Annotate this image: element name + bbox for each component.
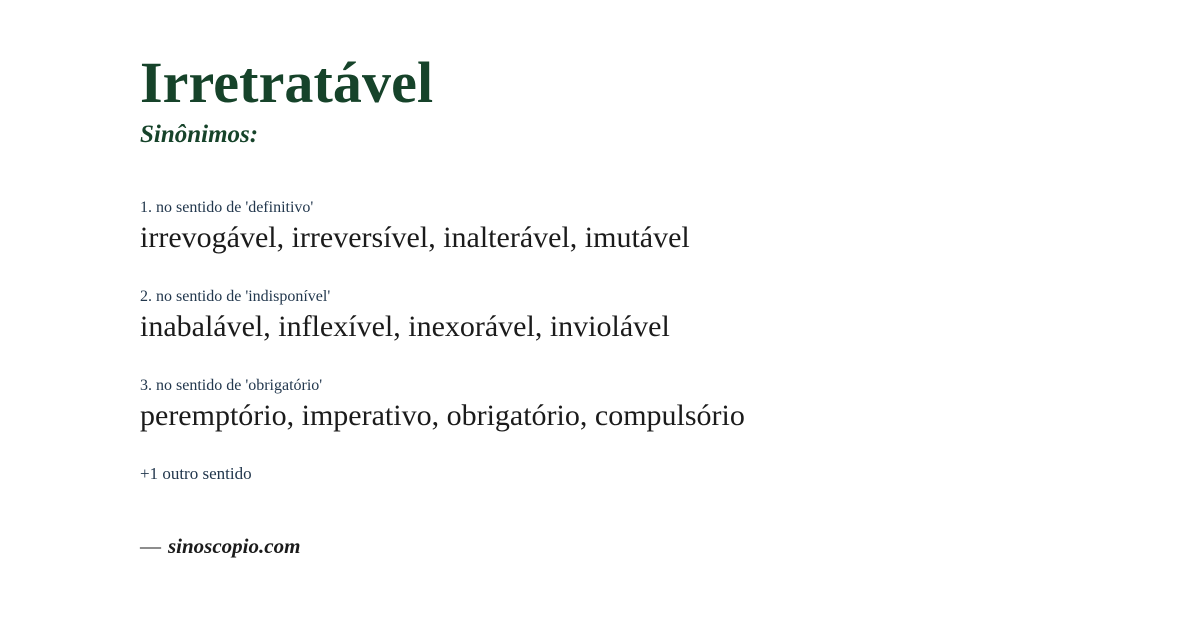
sense-entry: 2. no sentido de 'indisponível' inabaláv… [140,287,1140,345]
sense-entry: 1. no sentido de 'definitivo' irrevogáve… [140,198,1140,256]
sense-label: 1. no sentido de 'definitivo' [140,198,1140,218]
source-name: sinoscopio.com [168,534,300,558]
senses-list: 1. no sentido de 'definitivo' irrevogáve… [140,198,1140,434]
synonyms-card: Irretratável Sinônimos: 1. no sentido de… [0,0,1200,628]
sense-synonyms: irrevogável, irreversível, inalterável, … [140,220,1140,256]
attribution: —sinoscopio.com [140,534,300,559]
more-senses-note: +1 outro sentido [140,464,252,484]
em-dash-icon: — [140,534,161,558]
synonyms-subtitle: Sinônimos: [140,121,433,149]
sense-label: 3. no sentido de 'obrigatório' [140,376,1140,396]
page-title: Irretratável [140,52,433,115]
sense-synonyms: peremptório, imperativo, obrigatório, co… [140,398,1140,434]
sense-entry: 3. no sentido de 'obrigatório' peremptór… [140,376,1140,434]
card-header: Irretratável Sinônimos: [140,52,433,148]
sense-label: 2. no sentido de 'indisponível' [140,287,1140,307]
sense-synonyms: inabalável, inflexível, inexorável, invi… [140,309,1140,345]
